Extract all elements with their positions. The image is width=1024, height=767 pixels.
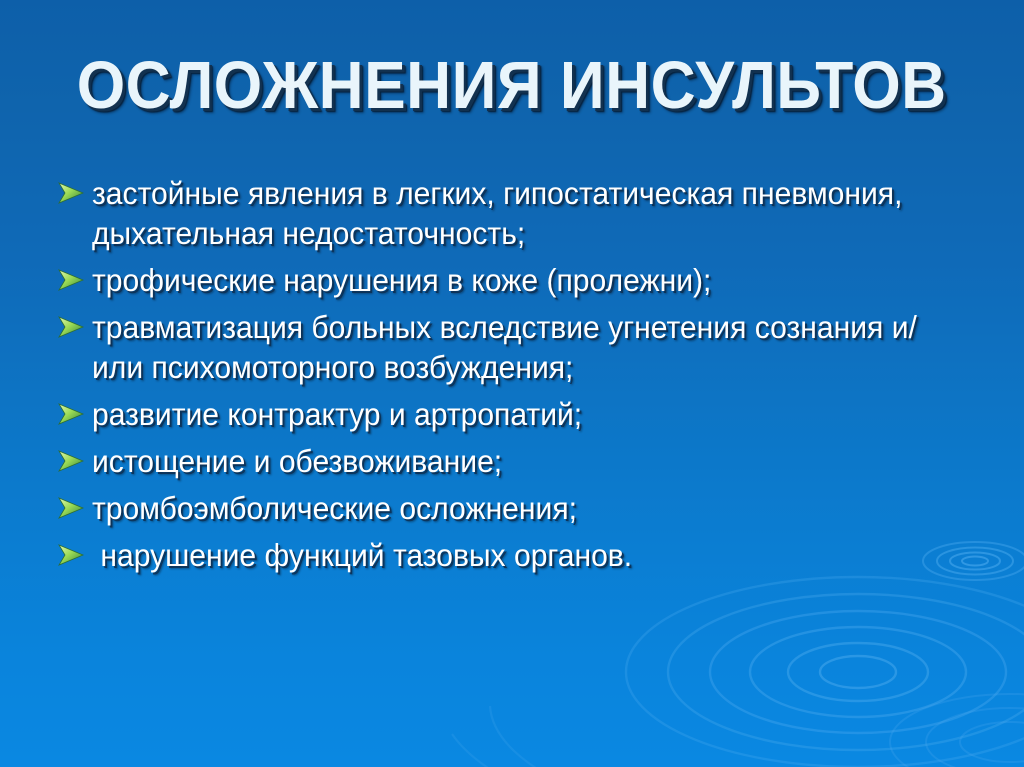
list-item: трофические нарушения в коже (пролежни); bbox=[58, 260, 988, 300]
presentation-slide: ОСЛОЖНЕНИЯ ИНСУЛЬТОВ застойные явления в… bbox=[0, 0, 1024, 767]
arrowhead-bullet-icon bbox=[58, 260, 92, 291]
arrowhead-bullet-icon bbox=[58, 535, 92, 566]
ripple-arcs-left bbox=[452, 700, 1024, 767]
bullet-list: застойные явления в легких, гипостатичес… bbox=[58, 173, 988, 582]
list-item-label: истощение и обезвоживание; bbox=[92, 441, 948, 481]
list-item-label: развитие контрактур и артропатий; bbox=[92, 394, 948, 434]
list-item: развитие контрактур и артропатий; bbox=[58, 394, 988, 434]
ripple-large-center bbox=[626, 577, 1024, 767]
list-item-label: нарушение функций тазовых органов. bbox=[92, 535, 948, 575]
arrowhead-bullet-icon bbox=[58, 441, 92, 472]
list-item: застойные явления в легких, гипостатичес… bbox=[58, 173, 988, 253]
list-item: тромбоэмболические осложнения; bbox=[58, 488, 988, 528]
list-item-label: трофические нарушения в коже (пролежни); bbox=[92, 260, 948, 300]
list-item: истощение и обезвоживание; bbox=[58, 441, 988, 481]
arrowhead-bullet-icon bbox=[58, 173, 92, 204]
page-title: ОСЛОЖНЕНИЯ ИНСУЛЬТОВ bbox=[77, 48, 947, 124]
list-item-label: тромбоэмболические осложнения; bbox=[92, 488, 948, 528]
ripple-corner-right bbox=[890, 694, 1024, 767]
list-item-label: застойные явления в легких, гипостатичес… bbox=[92, 173, 948, 253]
list-item-label: травматизация больных вследствие угнетен… bbox=[92, 307, 948, 387]
arrowhead-bullet-icon bbox=[58, 394, 92, 425]
list-item: нарушение функций тазовых органов. bbox=[58, 535, 988, 575]
arrowhead-bullet-icon bbox=[58, 488, 92, 519]
arrowhead-bullet-icon bbox=[58, 307, 92, 338]
list-item: травматизация больных вследствие угнетен… bbox=[58, 307, 988, 387]
slide-title-block: ОСЛОЖНЕНИЯ ИНСУЛЬТОВ bbox=[0, 48, 1024, 124]
